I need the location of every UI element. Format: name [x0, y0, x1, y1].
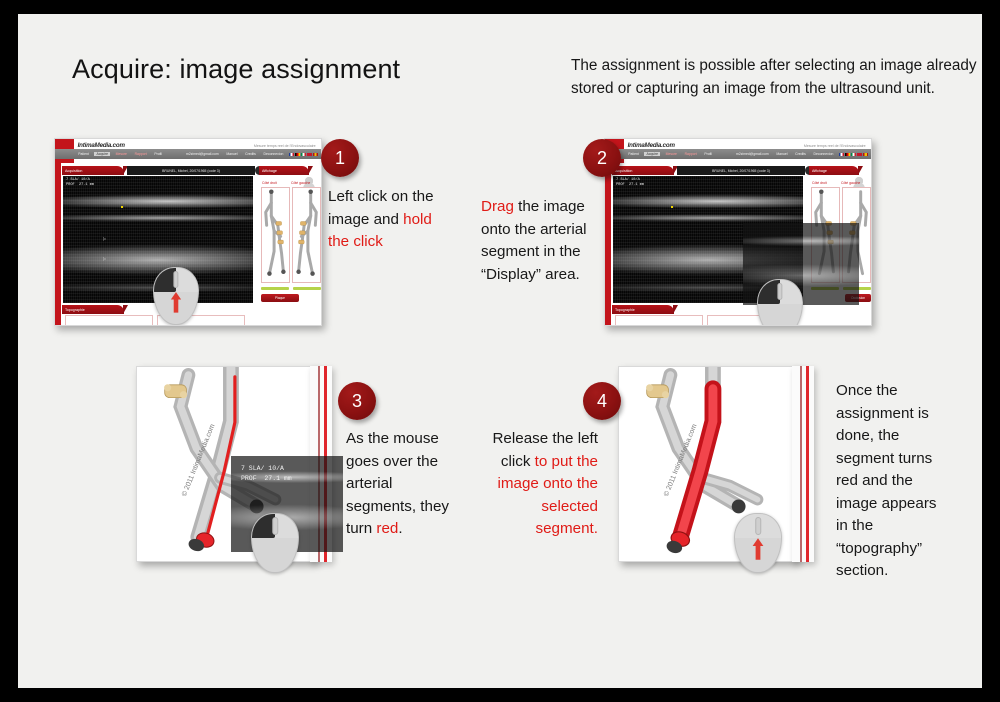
step-badge-4: 4	[583, 382, 621, 420]
measurement-marker-2	[671, 206, 673, 208]
mouse-right-button-2	[780, 280, 802, 304]
nav-tab-profil[interactable]: Profil	[152, 152, 164, 156]
artery-tree-right-svg	[293, 188, 320, 277]
step3-part2: red	[376, 520, 398, 537]
mouse-wheel-2	[777, 283, 782, 300]
ultrasound-overlay-line2: PROF 27.1 mm	[66, 183, 94, 188]
panel-title-topographie: Topographie	[62, 305, 124, 314]
label-side-left: Côté droit	[262, 181, 277, 185]
panel-title-topographie-2: Topographie	[612, 305, 674, 314]
button-plaque[interactable]: Plaque	[261, 294, 299, 302]
mouse-cursor-step2	[757, 279, 803, 326]
topography-slot-left-2[interactable]	[615, 315, 703, 326]
app-nav-2[interactable]: Patient Acquire Mesure Rapport Profil m2…	[605, 149, 871, 159]
label-side-left-2: Côté droit	[812, 181, 827, 185]
app-edge-step3	[310, 366, 332, 562]
page-title: Acquire: image assignment	[72, 54, 400, 85]
step-badge-1: 1	[321, 139, 359, 177]
topography-slot-left[interactable]	[65, 315, 153, 326]
mouse-cursor-step4	[734, 513, 782, 573]
nav-link-deconnexion[interactable]: Deconnexion	[262, 152, 286, 156]
label-side-right: Côté gauche	[291, 181, 310, 185]
nav-link-manuel-2[interactable]: Manuel	[774, 152, 789, 156]
artery-tree-right-2[interactable]	[842, 187, 871, 283]
nav-tab-mesure[interactable]: Mesure	[114, 152, 129, 156]
patient-banner-2: BRUNEL, Michel, 20/07/1965 (code 3)	[677, 166, 805, 175]
artery-tree-right[interactable]	[292, 187, 321, 283]
ultrasound-overlay-line1: 7 SLA/ 10/A	[66, 178, 90, 183]
step-text-1: Left click on the image and hold the cli…	[328, 186, 438, 254]
nav-tab-rapport[interactable]: Rapport	[133, 152, 149, 156]
slide-canvas: Acquire: image assignment The assignment…	[18, 14, 982, 688]
panel-title-acquisition: Acquisition	[62, 166, 124, 175]
step3-part3: .	[398, 520, 402, 537]
nav-tab-acquire[interactable]: Acquire	[94, 152, 110, 156]
caliper-marker-2: ▷	[103, 256, 106, 261]
nav-tab-rapport-2[interactable]: Rapport	[683, 152, 699, 156]
panel-title-affichage-2: Affichage	[809, 166, 859, 175]
artery-tree-left-svg	[262, 188, 289, 277]
nav-link-manuel[interactable]: Manuel	[224, 152, 239, 156]
nav-link-credits[interactable]: Credits	[243, 152, 258, 156]
ultrasound-overlay-line1-2: 7 SLA/ 10/A	[616, 178, 640, 183]
mouse-cursor-step3	[251, 513, 299, 573]
nav-tab-acquire-2[interactable]: Acquire	[644, 152, 660, 156]
panel-title-acquisition-2: Acquisition	[612, 166, 674, 175]
step-badge-2: 2	[583, 139, 621, 177]
step2-part1: Drag	[481, 198, 514, 215]
mouse-arrow-up-icon-4	[752, 531, 764, 567]
measurement-marker	[121, 206, 123, 208]
nav-tab-patient[interactable]: Patient	[76, 152, 91, 156]
artery-tree-left[interactable]	[261, 187, 290, 283]
app-edge-line-4	[806, 366, 809, 562]
nav-tab-profil-2[interactable]: Profil	[702, 152, 714, 156]
step-text-2: Drag the image onto the arterial segment…	[481, 196, 593, 286]
language-flags[interactable]	[289, 153, 318, 156]
nav-link-deconnexion-2[interactable]: Deconnexion	[812, 152, 836, 156]
label-side-right-2: Côté gauche	[841, 181, 860, 185]
artery-tree-left-svg-2	[812, 188, 839, 277]
artery-tree-right-svg-2	[843, 188, 870, 277]
app-tagline-2: Mesure temps reel de l'Endovasculaire	[804, 144, 866, 148]
artery-tree-left-2[interactable]	[811, 187, 840, 283]
app-edge-line-3	[800, 366, 802, 562]
legend-bar-left	[261, 287, 289, 290]
caliper-marker-1: ▷	[103, 236, 106, 241]
app-nav[interactable]: Patient Acquire Mesure Rapport Profil m2…	[55, 149, 321, 159]
ultrasound-overlay-line2-2: PROF 27.1 mm	[616, 183, 644, 188]
app-edge-step4	[792, 366, 814, 562]
legend-bar-left-2	[811, 287, 839, 290]
nav-tab-mesure-2[interactable]: Mesure	[664, 152, 679, 156]
step-text-3: As the mouse goes over the arterial segm…	[346, 428, 464, 541]
app-tagline: Mesure temps reel de l'Endovasculaire	[254, 144, 316, 148]
panel-title-affichage: Affichage	[259, 166, 309, 175]
app-edge-line-2	[324, 366, 327, 562]
step-text-4: Release the left click to put the image …	[478, 428, 598, 541]
nav-link-credits-2[interactable]: Credits	[793, 152, 808, 156]
left-red-rail-2	[605, 163, 611, 325]
mouse-arrow-up-icon	[170, 285, 181, 320]
step-badge-3: 3	[338, 382, 376, 420]
screenshot-step1[interactable]: IntimaMedia.com Mesure temps reel de l'E…	[54, 138, 322, 326]
nav-account[interactable]: m2zimed@gmail.com	[184, 152, 221, 156]
app-header-2: IntimaMedia.com Mesure temps reel de l'E…	[605, 139, 871, 163]
screenshot-step2[interactable]: IntimaMedia.com Mesure temps reel de l'E…	[604, 138, 872, 326]
patient-banner: BRUNEL, Michel, 20/07/1965 (code 3)	[127, 166, 255, 175]
left-red-rail	[55, 163, 61, 325]
legend-bar-right	[293, 287, 321, 290]
app-header: IntimaMedia.com Mesure temps reel de l'E…	[55, 139, 321, 163]
intro-paragraph: The assignment is possible after selecti…	[571, 54, 981, 100]
nav-account-2[interactable]: m2zimed@gmail.com	[734, 152, 771, 156]
button-occlusion-2[interactable]: Occlusion	[845, 294, 871, 302]
mouse-right-button-3	[275, 514, 298, 538]
mouse-wheel-3	[272, 517, 278, 534]
legend-bar-right-2	[843, 287, 871, 290]
nav-tab-patient-2[interactable]: Patient	[626, 152, 641, 156]
conclusion-text: Once the assignment is done, the segment…	[836, 380, 952, 583]
app-edge-line-1	[318, 366, 320, 562]
language-flags-2[interactable]	[839, 153, 868, 156]
